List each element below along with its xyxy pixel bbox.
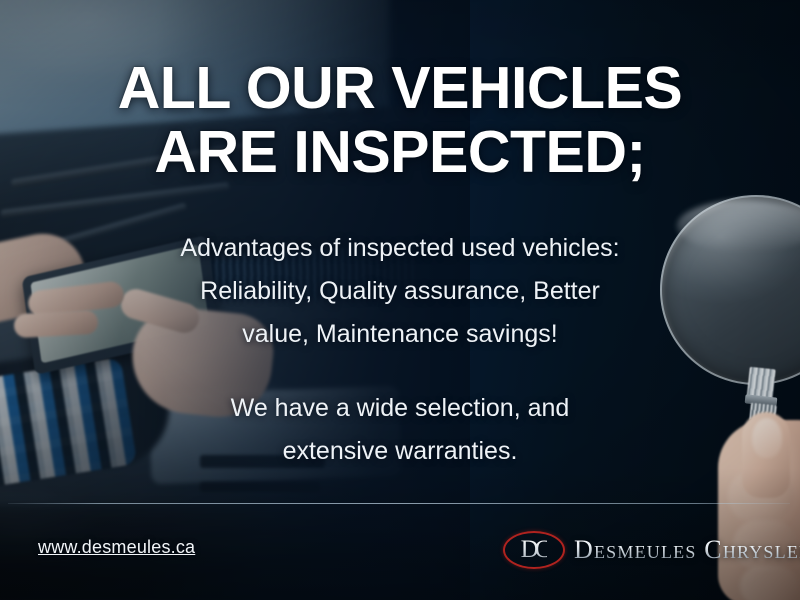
logo-monogram-text: DC — [521, 536, 548, 564]
website-url-link[interactable]: www.desmeules.ca — [38, 537, 195, 558]
body-p1-line-3: value, Maintenance savings! — [0, 313, 800, 356]
dealer-logo[interactable]: DC Desmeules Chrysler — [503, 528, 800, 572]
body-paragraph-2: We have a wide selection, and extensive … — [0, 387, 800, 473]
body-p1-line-2: Reliability, Quality assurance, Better — [0, 270, 800, 313]
headline: ALL OUR VEHICLES ARE INSPECTED; — [0, 56, 800, 184]
body-copy: Advantages of inspected used vehicles: R… — [0, 227, 800, 473]
promotional-banner: ALL OUR VEHICLES ARE INSPECTED; Advantag… — [0, 0, 800, 600]
headline-line-2: ARE INSPECTED; — [0, 120, 800, 184]
body-p2-line-2: extensive warranties. — [0, 430, 800, 473]
headline-line-1: ALL OUR VEHICLES — [0, 56, 800, 120]
logo-monogram: DC — [503, 531, 565, 569]
body-p2-line-1: We have a wide selection, and — [0, 387, 800, 430]
body-p1-line-1: Advantages of inspected used vehicles: — [0, 227, 800, 270]
banner-content: ALL OUR VEHICLES ARE INSPECTED; Advantag… — [0, 0, 800, 600]
logo-wordmark: Desmeules Chrysler — [574, 535, 800, 565]
body-paragraph-1: Advantages of inspected used vehicles: R… — [0, 227, 800, 356]
